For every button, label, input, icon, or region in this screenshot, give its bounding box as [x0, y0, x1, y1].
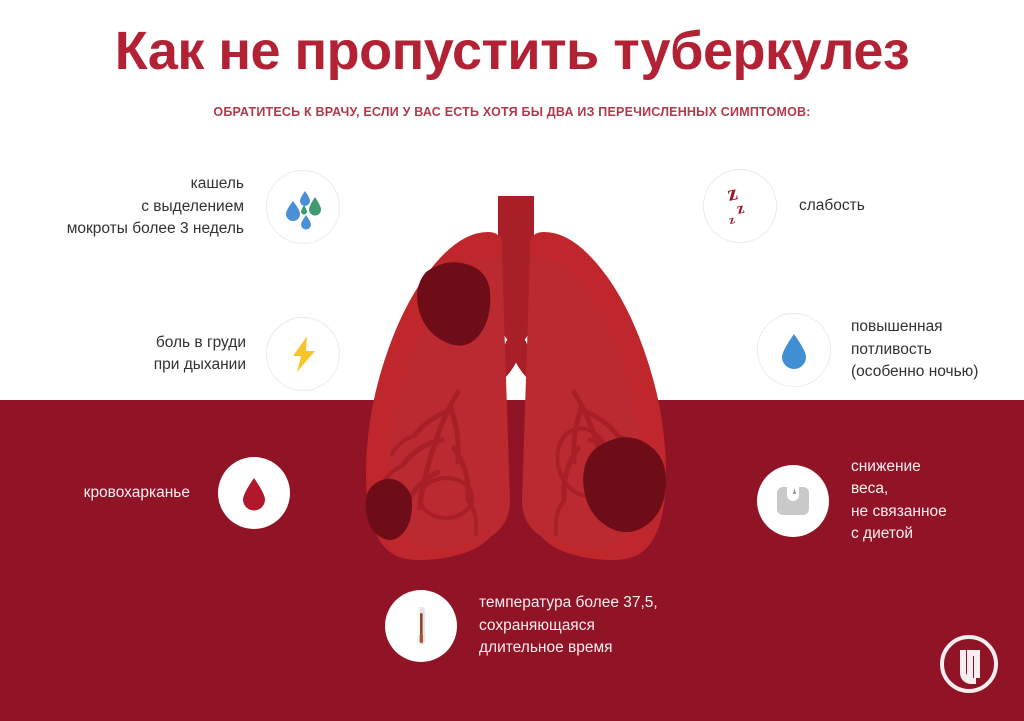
organization-monogram-logo[interactable] — [938, 633, 1000, 695]
lungs-svg — [326, 196, 706, 568]
blood-drop-icon — [234, 473, 274, 513]
symptom-weakness-badge: z z z — [703, 169, 777, 243]
symptom-fever: температура более 37,5, сохраняющаяся дл… — [385, 590, 715, 662]
symptom-weight-loss: снижение веса, не связанное с диетой — [757, 456, 1022, 546]
svg-text:z: z — [735, 200, 745, 218]
symptom-weakness: z z z слабость — [703, 169, 993, 243]
symptom-chest-pain: боль в груди при дыхании — [60, 317, 340, 391]
symptom-sweating: повышенная потливость (особенно ночью) — [757, 313, 1022, 387]
infographic-poster: Как не пропустить туберкулез ОБРАТИТЕСЬ … — [0, 0, 1024, 721]
symptom-fever-badge — [385, 590, 457, 662]
symptom-weakness-label: слабость — [799, 195, 865, 217]
svg-text:z: z — [728, 212, 737, 227]
symptom-fever-label: температура более 37,5, сохраняющаяся дл… — [479, 592, 658, 659]
symptom-hemoptysis: кровохарканье — [70, 457, 290, 529]
symptom-weight-loss-label: снижение веса, не связанное с диетой — [851, 456, 947, 546]
symptom-hemoptysis-label: кровохарканье — [84, 482, 190, 504]
symptom-weight-loss-badge — [757, 465, 829, 537]
thermometer-icon — [399, 604, 443, 648]
sputum-droplets-icon — [279, 183, 327, 231]
symptom-sweating-badge — [757, 313, 831, 387]
weight-scale-icon — [772, 480, 814, 522]
lungs-illustration — [326, 196, 706, 568]
page-title: Как не пропустить туберкулез — [0, 22, 1024, 81]
sleep-zzz-icon: z z z — [715, 181, 765, 231]
symptom-hemoptysis-badge — [218, 457, 290, 529]
page-subtitle: ОБРАТИТЕСЬ К ВРАЧУ, ЕСЛИ У ВАС ЕСТЬ ХОТЯ… — [0, 105, 1024, 119]
symptom-cough-label: кашель с выделением мокроты более 3 неде… — [67, 173, 244, 240]
symptom-chest-pain-label: боль в груди при дыхании — [154, 332, 246, 377]
logo-mark-icon — [938, 633, 1000, 695]
symptom-sweating-label: повышенная потливость (особенно ночью) — [851, 316, 978, 383]
symptom-cough: кашель с выделением мокроты более 3 неде… — [50, 170, 340, 244]
sweat-drop-icon — [774, 330, 814, 370]
lightning-bolt-icon — [282, 333, 324, 375]
symptom-cough-badge — [266, 170, 340, 244]
symptom-chest-pain-badge — [266, 317, 340, 391]
